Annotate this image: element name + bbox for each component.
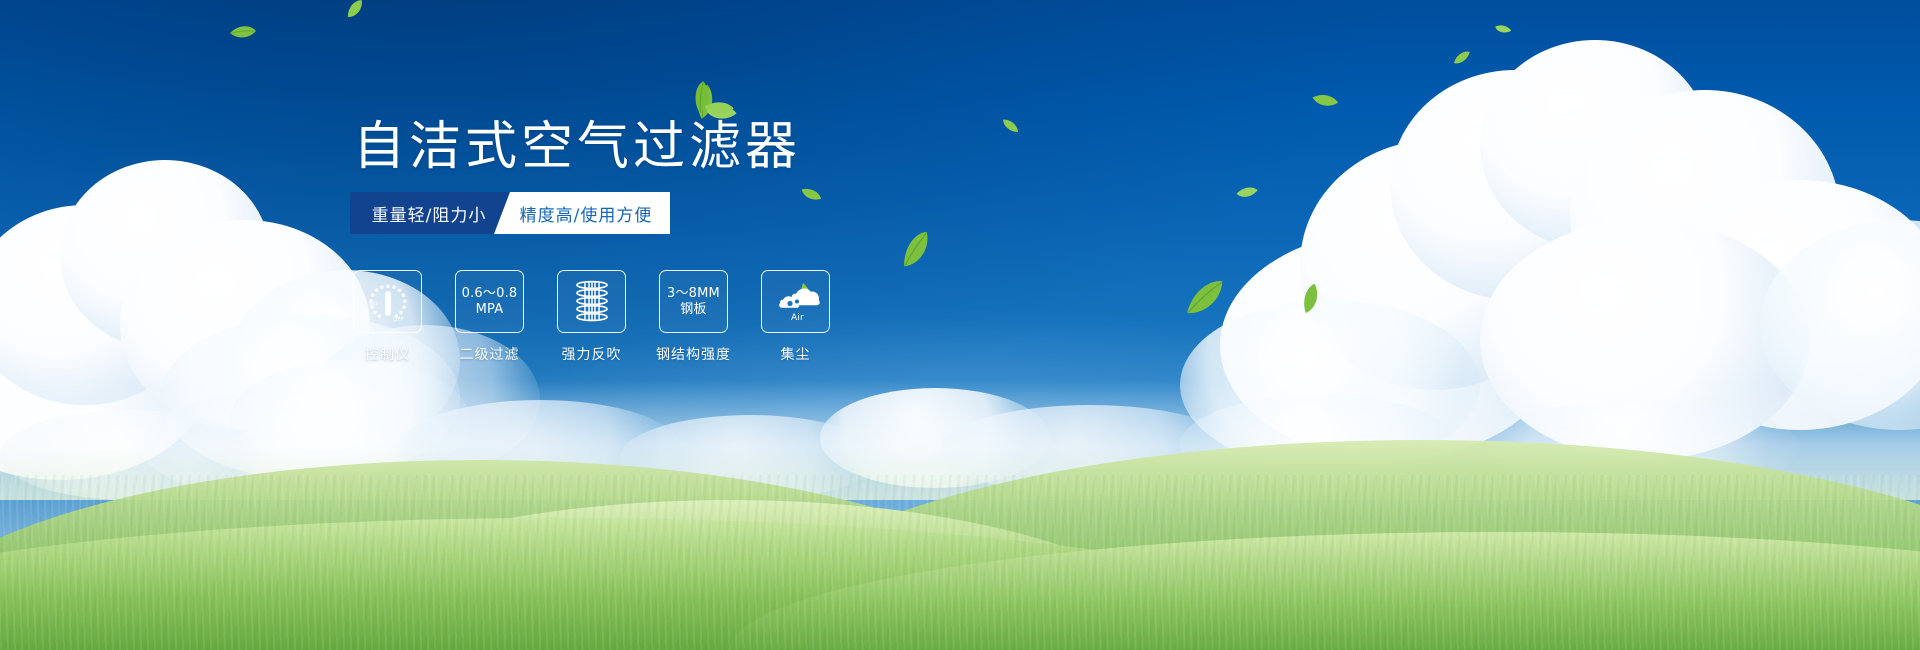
feature-box-line2: MPA bbox=[476, 302, 504, 318]
feature-label: 控制仪 bbox=[365, 344, 410, 364]
control-dial-icon: NO OFF bbox=[364, 279, 412, 325]
feature-item-dust-collection[interactable]: Air 集尘 bbox=[761, 270, 830, 364]
tag-weight-resistance[interactable]: 重量轻/阻力小 bbox=[350, 192, 510, 234]
banner-title: 自洁式空气过滤器 bbox=[353, 121, 801, 173]
feature-item-strong-backblow[interactable]: 强力反吹 bbox=[557, 270, 626, 364]
feature-icon-row: NO OFF 控制仪 0.6～0.8 MPA 二级过滤 bbox=[353, 270, 830, 364]
feature-item-steel-strength[interactable]: 3～8MM 钢板 钢结构强度 bbox=[659, 270, 728, 364]
air-cloud-icon: Air bbox=[770, 280, 822, 324]
feature-box bbox=[557, 270, 626, 333]
feature-label: 二级过滤 bbox=[460, 344, 520, 364]
svg-text:NO: NO bbox=[369, 301, 378, 307]
feature-label: 钢结构强度 bbox=[656, 344, 731, 364]
tag-precision-ease[interactable]: 精度高/使用方便 bbox=[494, 192, 670, 234]
hero-banner: 自洁式空气过滤器 重量轻/阻力小 精度高/使用方便 bbox=[0, 0, 1920, 650]
svg-text:OFF: OFF bbox=[393, 317, 404, 323]
feature-item-two-stage-filter[interactable]: 0.6～0.8 MPA 二级过滤 bbox=[455, 270, 524, 364]
feature-box: 3～8MM 钢板 bbox=[659, 270, 728, 333]
feature-label: 强力反吹 bbox=[562, 344, 622, 364]
feature-tag-bar: 重量轻/阻力小 精度高/使用方便 bbox=[350, 192, 670, 234]
banner-content: 自洁式空气过滤器 重量轻/阻力小 精度高/使用方便 bbox=[0, 0, 1920, 650]
feature-box-line2: 钢板 bbox=[680, 302, 706, 318]
feature-box: NO OFF bbox=[353, 270, 422, 333]
feature-box: 0.6～0.8 MPA bbox=[455, 270, 524, 333]
feature-box: Air bbox=[761, 270, 830, 333]
filter-stack-icon bbox=[571, 279, 613, 325]
feature-box-line1: 0.6～0.8 bbox=[462, 286, 518, 302]
feature-box-line1: 3～8MM bbox=[667, 286, 720, 302]
air-cloud-text: Air bbox=[791, 313, 804, 323]
feature-item-control-instrument[interactable]: NO OFF 控制仪 bbox=[353, 270, 422, 364]
feature-label: 集尘 bbox=[781, 344, 811, 364]
